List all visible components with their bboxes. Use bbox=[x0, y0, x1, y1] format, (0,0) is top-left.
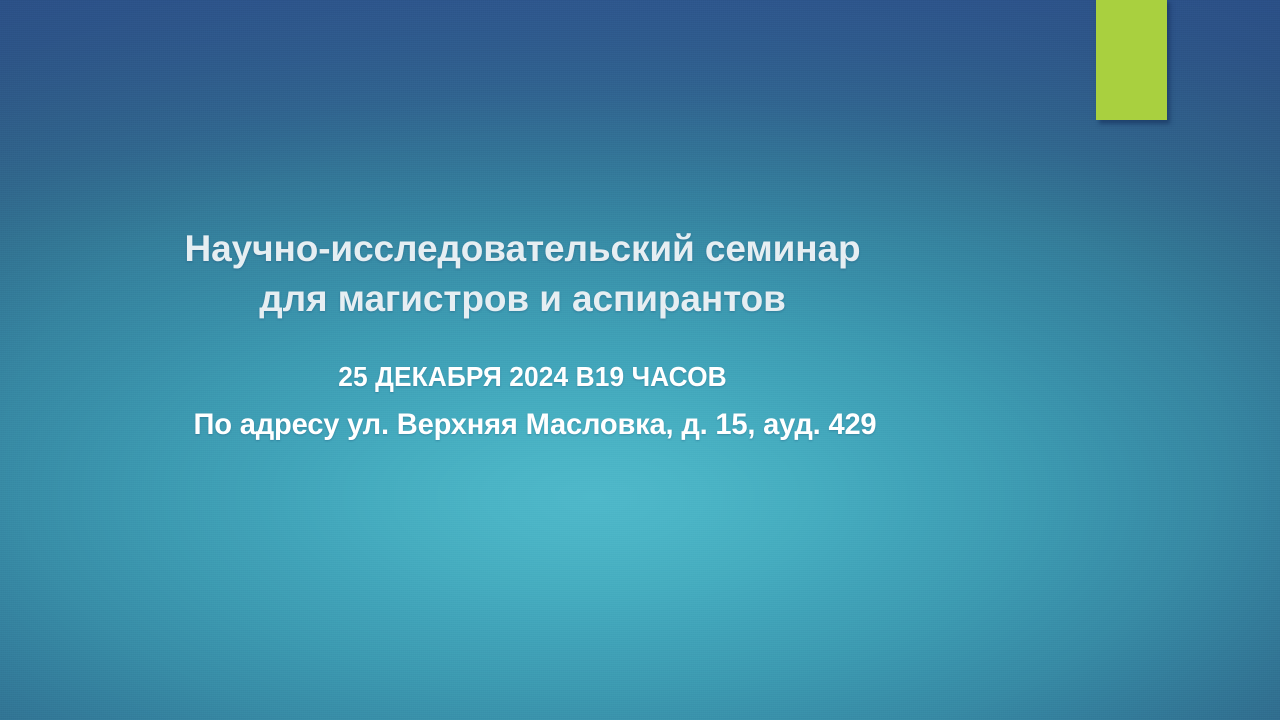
slide-title: Научно-исследовательский семинар для маг… bbox=[60, 224, 985, 324]
event-date-time: 25 ДЕКАБРЯ 2024 В19 ЧАСОВ bbox=[88, 360, 976, 394]
presentation-slide: Научно-исследовательский семинар для маг… bbox=[0, 0, 1280, 720]
event-address: По адресу ул. Верхняя Масловка, д. 15, а… bbox=[74, 406, 996, 444]
slide-content: Научно-исследовательский семинар для маг… bbox=[0, 0, 1280, 720]
